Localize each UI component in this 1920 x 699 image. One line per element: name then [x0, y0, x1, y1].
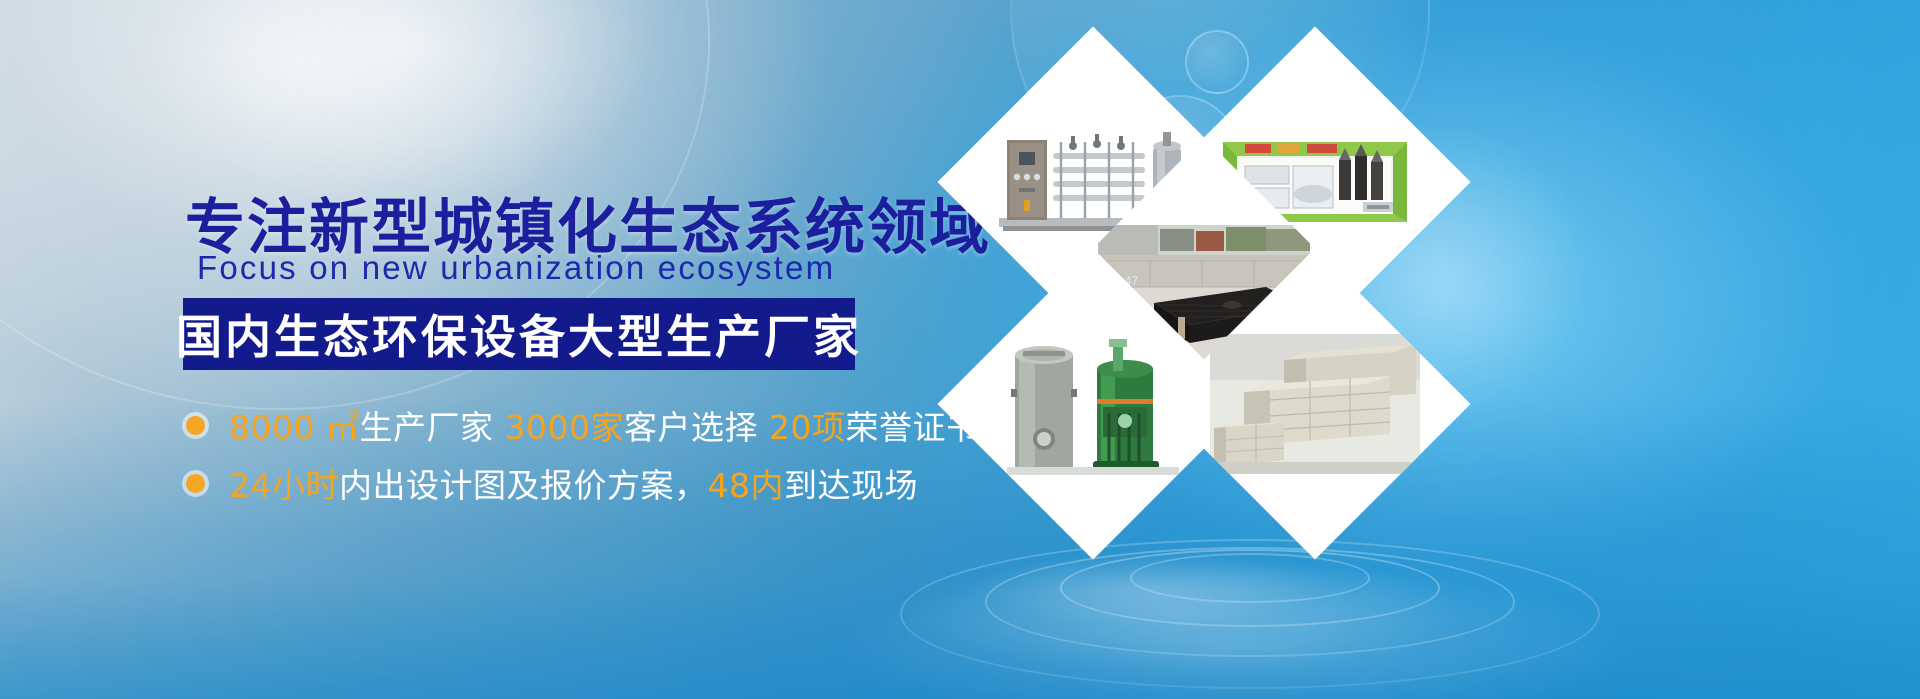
- list-item: 8000 ㎡生产厂家 3000家客户选择 20项荣誉证书: [183, 400, 979, 450]
- bullet-segment: 48内: [708, 466, 785, 505]
- bullet-list: 8000 ㎡生产厂家 3000家客户选择 20项荣誉证书 24小时内出设计图及报…: [183, 400, 979, 516]
- list-item: 24小时内出设计图及报价方案，48内到达现场: [183, 458, 979, 508]
- bullet-segment: 内出设计图及报价方案，: [339, 466, 708, 505]
- bullet-segment: 24小时: [229, 466, 339, 505]
- banner-copy: 专注新型城镇化生态系统领域 Focus on new urbanization …: [0, 0, 900, 699]
- bullet-dot-icon: [186, 474, 205, 493]
- bullet-dot-icon: [186, 416, 205, 435]
- bullet-segment: 生产厂家: [359, 408, 504, 447]
- bullet-text-1: 8000 ㎡生产厂家 3000家客户选择 20项荣誉证书: [229, 401, 979, 449]
- bullet-segment: 3000家: [504, 408, 623, 447]
- highlight-box-label: 国内生态环保设备大型生产厂家: [176, 301, 862, 367]
- bullet-segment: 客户选择: [624, 408, 769, 447]
- product-diamond-gallery: 39 47 6 9 ■■■■■■■ ■■■■■■■■■: [915, 0, 1920, 699]
- headline-english: Focus on new urbanization ecosystem: [197, 249, 835, 287]
- promo-banner: 专注新型城镇化生态系统领域 Focus on new urbanization …: [0, 0, 1920, 699]
- bullet-segment: 8000 ㎡: [229, 408, 359, 447]
- bullet-segment: 20项: [769, 408, 846, 447]
- highlight-box: 国内生态环保设备大型生产厂家: [183, 298, 855, 370]
- bullet-text-2: 24小时内出设计图及报价方案，48内到达现场: [229, 459, 918, 507]
- bullet-segment: 到达现场: [784, 466, 918, 505]
